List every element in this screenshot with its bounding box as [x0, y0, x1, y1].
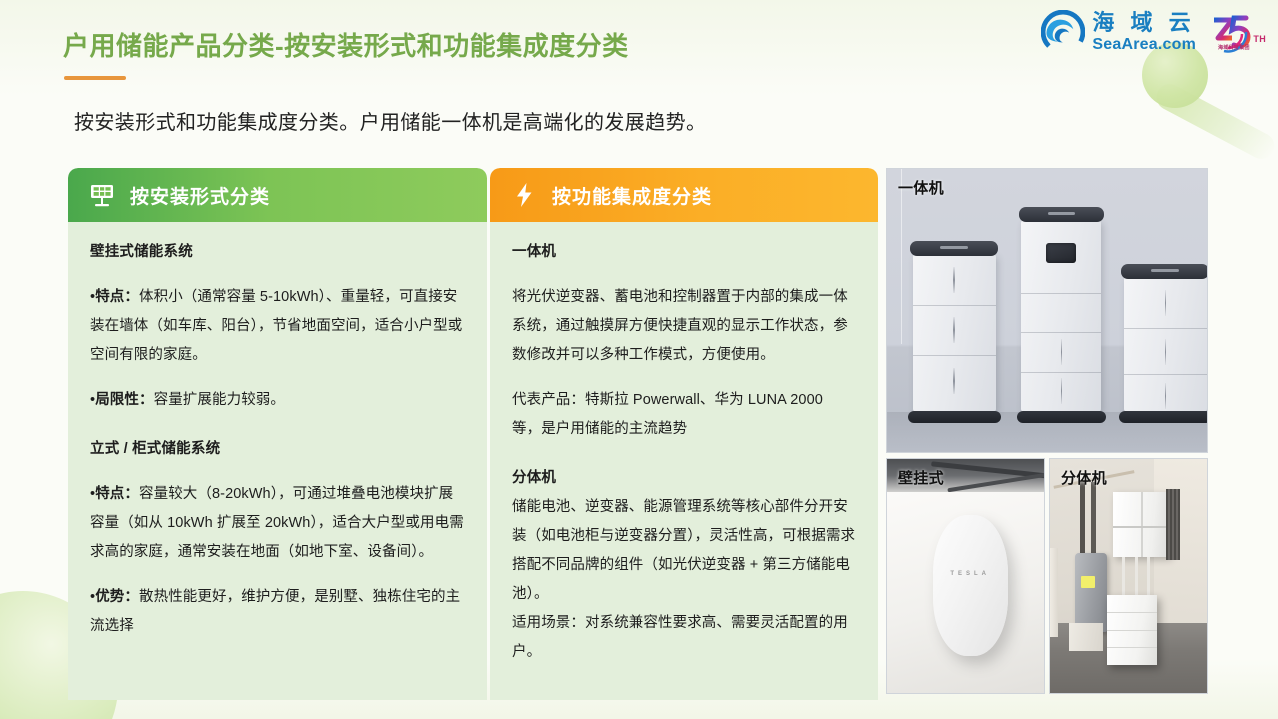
section-heading: 壁挂式储能系统	[90, 240, 465, 261]
device-brand-label: TESLA	[950, 571, 990, 577]
photo-wall-mounted: TESLA 壁挂式	[886, 458, 1045, 694]
door-panel	[1050, 548, 1058, 637]
battery-cabinet	[1021, 220, 1101, 412]
section-paragraph: 代表产品：特斯拉 Powerwall、华为 LUNA 2000 等，是户用储能的…	[512, 386, 856, 444]
anniversary-suffix: TH	[1253, 34, 1266, 44]
section-paragraph: •优势：散热性能更好，维护方便，是别墅、独栋住宅的主流选择	[90, 583, 465, 641]
card-integration-level: 按功能集成度分类 一体机 将光伏逆变器、蓄电池和控制器置于内部的集成一体系统，通…	[490, 168, 878, 700]
section-paragraph: •局限性：容量扩展能力较弱。	[90, 386, 465, 415]
section-paragraph: •特点：容量较大（8-20kWh），可通过堆叠电池模块扩展容量（如从 10kWh…	[90, 480, 465, 567]
paragraph-text: 容量扩展能力较弱。	[154, 392, 285, 408]
photo-caption: 一体机	[898, 177, 944, 198]
equipment-plinth	[1069, 623, 1104, 651]
card-installation-type: 按安装形式分类 壁挂式储能系统 •特点：体积小（通常容量 5-10kWh）、重量…	[68, 168, 487, 700]
wave-dolphin-logo-icon	[1041, 10, 1085, 54]
brand-name-en: SeaArea.com	[1092, 37, 1196, 53]
paragraph-text: 体积小（通常容量 5-10kWh）、重量轻，可直接安装在墙体（如车库、阳台），节…	[90, 289, 462, 363]
photo-caption: 壁挂式	[898, 467, 944, 488]
seaarea-wordmark: 海 域 云 SeaArea.com	[1092, 12, 1196, 53]
display-screen	[1046, 243, 1076, 263]
section-paragraph: •特点：体积小（通常容量 5-10kWh）、重量轻，可直接安装在墙体（如车库、阳…	[90, 283, 465, 370]
card-title-installation: 按安装形式分类	[130, 182, 270, 209]
title-underline-rule	[64, 76, 126, 80]
photo-all-in-one: 一体机	[886, 168, 1208, 453]
slide-header: 户用储能产品分类-按安装形式和功能集成度分类 海 域 云 SeaArea.com	[0, 0, 1278, 96]
vent-pipe	[1091, 482, 1096, 557]
water-heater	[1075, 553, 1106, 633]
paragraph-label: 优势：	[95, 589, 139, 605]
heat-sink-fins	[1166, 489, 1180, 559]
section-paragraph: 储能电池、逆变器、能源管理系统等核心部件分开安装（如电池柜与逆变器分置），灵活性…	[512, 493, 856, 609]
photo-row: TESLA 壁挂式	[886, 458, 1208, 694]
paragraph-text: 容量较大（8-20kWh），可通过堆叠电池模块扩展容量（如从 10kWh 扩展至…	[90, 486, 464, 560]
section-heading: 立式 / 柜式储能系统	[90, 437, 465, 458]
photo-column: 一体机 TESLA 壁挂式	[886, 168, 1208, 694]
logo-cluster: 海 域 云 SeaArea.com TH	[1041, 8, 1266, 56]
paragraph-label: 局限性：	[95, 392, 153, 408]
card-body-integration: 一体机 将光伏逆变器、蓄电池和控制器置于内部的集成一体系统，通过触摸屏方便快捷直…	[490, 222, 878, 700]
floor-battery-cabinet	[1107, 595, 1157, 665]
paragraph-label: 特点：	[95, 486, 139, 502]
card-header-installation: 按安装形式分类	[68, 168, 487, 222]
card-title-integration: 按功能集成度分类	[552, 182, 712, 209]
battery-cabinet	[1124, 277, 1207, 413]
wall-mounted-inverter	[1113, 492, 1170, 558]
seaarea-logo: 海 域 云 SeaArea.com	[1041, 10, 1196, 54]
all-in-one-scene	[887, 169, 1207, 452]
section-heading: 一体机	[512, 240, 856, 261]
vent-pipe	[1080, 482, 1085, 562]
section-paragraph: 适用场景：对系统兼容性要求高、需要灵活配置的用户。	[512, 609, 856, 667]
brand-name-cn: 海 域 云	[1092, 12, 1196, 34]
powerwall-unit: TESLA	[933, 515, 1008, 655]
section-heading: 分体机	[512, 466, 856, 487]
card-body-installation: 壁挂式储能系统 •特点：体积小（通常容量 5-10kWh）、重量轻，可直接安装在…	[68, 222, 487, 700]
lightning-bolt-icon	[510, 181, 538, 209]
card-header-integration: 按功能集成度分类	[490, 168, 878, 222]
anniversary-subtext: 海域科技集团	[1218, 44, 1250, 51]
split-system-scene	[1050, 459, 1207, 693]
photo-caption: 分体机	[1061, 467, 1107, 488]
solar-panel-icon	[88, 181, 116, 209]
paragraph-label: 特点：	[95, 289, 139, 305]
anniversary-logo: TH 海域科技集团	[1206, 8, 1266, 56]
photo-split-system: 分体机	[1049, 458, 1208, 694]
intro-text: 按安装形式和功能集成度分类。户用储能一体机是高端化的发展趋势。	[74, 106, 706, 135]
paragraph-text: 散热性能更好，维护方便，是别墅、独栋住宅的主流选择	[90, 589, 460, 634]
wall-mounted-scene: TESLA	[887, 459, 1044, 693]
battery-cabinet	[913, 254, 996, 412]
section-paragraph: 将光伏逆变器、蓄电池和控制器置于内部的集成一体系统，通过触摸屏方便快捷直观的显示…	[512, 283, 856, 370]
page-title: 户用储能产品分类-按安装形式和功能集成度分类	[63, 26, 629, 63]
